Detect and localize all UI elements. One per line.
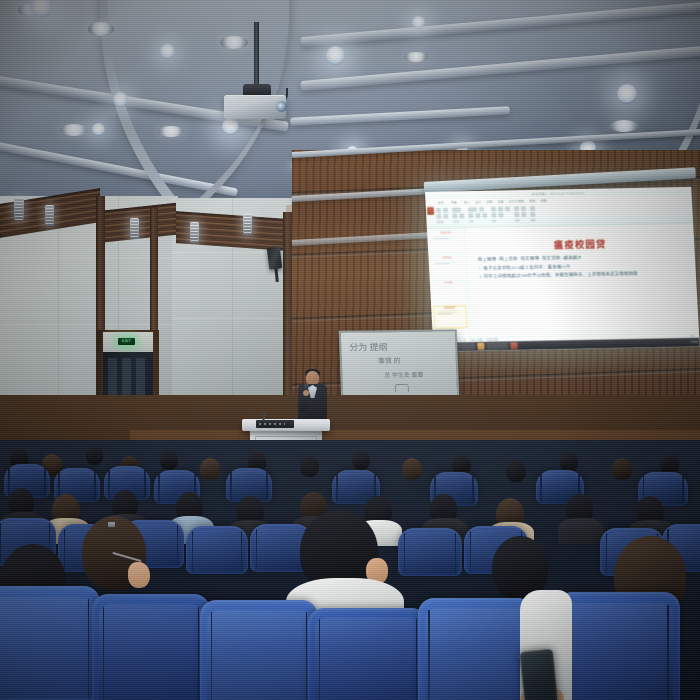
audience-shoulders <box>558 518 604 544</box>
ribbon-group-label: 幻灯片 <box>453 219 465 223</box>
replace-icon[interactable] <box>530 212 535 217</box>
slide-editing-area[interactable]: 瘟疫校园贷 网上赌博--网上贷款--现实赌博--现实贷款--越滚越大 电子信息学… <box>465 224 699 337</box>
audience-head <box>402 458 422 480</box>
ribbon-tab-home[interactable]: 开始 <box>449 199 459 204</box>
wall-sconce <box>130 218 139 239</box>
hair-clip <box>108 522 115 527</box>
arrange-icon[interactable] <box>521 206 526 211</box>
ribbon-group-editing[interactable]: 编辑 <box>530 206 536 222</box>
projection-screen: 演示文稿1 - Microsoft PowerPoint 文件 开始 插入 设计… <box>425 187 700 352</box>
auditorium-seat-front <box>308 608 428 700</box>
ceiling-lamp <box>92 123 105 136</box>
ribbon-group-paragraph[interactable]: 段落 <box>491 206 511 222</box>
reset-icon[interactable] <box>459 213 464 218</box>
ribbon-group-label: 绘图 <box>515 218 527 222</box>
ribbon-group-label: 剪贴板 <box>437 220 449 224</box>
current-slide[interactable]: 瘟疫校园贷 网上赌博--网上贷款--现实赌博--现实贷款--越滚越大 电子信息学… <box>469 229 695 334</box>
ceiling-lamp <box>412 16 425 29</box>
slide-thumbnail[interactable]: 校园贷风险 <box>429 230 463 254</box>
ribbon-group-label: 字体 <box>469 219 488 223</box>
numbering-icon[interactable] <box>498 206 503 211</box>
wall-sconce <box>45 205 54 226</box>
ribbon-tab-animations[interactable]: 动画 <box>497 198 503 203</box>
ribbon-tab-review[interactable]: 审阅 <box>529 198 535 203</box>
slide-thumbnail-panel[interactable]: 校园贷风险 典型案例 防范措施 瘟疫校园贷 <box>427 228 471 338</box>
recessed-downlight <box>60 124 88 136</box>
shape-fill-icon[interactable] <box>514 212 519 217</box>
ribbon-tab-file[interactable]: 文件 <box>437 200 443 205</box>
audience-head <box>506 460 526 482</box>
taskbar-window-button[interactable] <box>486 342 508 349</box>
slide-thumbnail-title: 典型案例 <box>433 257 461 260</box>
auditorium-seat-front <box>200 600 318 700</box>
wall-speaker <box>267 246 283 269</box>
shapes-icon[interactable] <box>514 206 519 211</box>
recessed-downlight <box>220 36 248 49</box>
projector-lens <box>276 101 287 112</box>
lectern-control-panel[interactable] <box>256 420 294 428</box>
font-size-dropdown[interactable] <box>479 207 484 212</box>
italic-icon[interactable] <box>475 213 480 218</box>
ceiling-lamp <box>617 84 637 104</box>
ribbon-group-clipboard[interactable]: 剪贴板 <box>436 208 449 224</box>
whiteboard-ink-line: 分为 提纲 <box>349 340 388 353</box>
line-spacing-icon[interactable] <box>498 212 503 217</box>
window-title: 演示文稿1 - Microsoft PowerPoint <box>532 190 585 195</box>
slide-thumbnail-selected[interactable]: 瘟疫校园贷 <box>433 305 467 329</box>
exit-sign: EXIT <box>118 338 135 345</box>
audience-head <box>200 458 220 480</box>
layout-icon[interactable] <box>452 213 457 218</box>
slide-thumbnail-title: 校园贷风险 <box>432 232 460 235</box>
audience-head <box>300 456 319 477</box>
presenter-hand <box>303 390 309 396</box>
slide-thumbnail-title: 瘟疫校园贷 <box>436 307 464 310</box>
find-icon[interactable] <box>530 206 535 211</box>
whiteboard: 分为 提纲 事情 的 总 学生处 重要 <box>339 329 460 400</box>
audience-head <box>612 458 632 480</box>
audience-head <box>352 450 370 470</box>
taskbar-powerpoint-icon[interactable] <box>510 342 517 349</box>
whiteboard-ink-shape <box>395 384 409 392</box>
audience-area <box>0 440 700 700</box>
phone-screen[interactable] <box>522 653 555 700</box>
shape-outline-icon[interactable] <box>521 212 526 217</box>
align-icon[interactable] <box>505 206 510 211</box>
auditorium-seat-front <box>92 594 210 700</box>
slide-bullet-list: 电子信息学院2014级三名同学，最多输19万 同学之间借钱超过500的予以劝阻，… <box>478 262 685 281</box>
recessed-downlight <box>404 52 428 62</box>
wall-sconce <box>243 214 252 235</box>
bold-icon[interactable] <box>468 213 473 218</box>
ceiling-lamp <box>113 92 128 107</box>
smartphone-in-hand[interactable] <box>519 648 559 700</box>
recessed-downlight <box>610 120 638 132</box>
copy-icon[interactable] <box>436 214 441 219</box>
ribbon-tab-transitions[interactable]: 切换 <box>486 199 492 204</box>
projector-mount-rod <box>254 22 259 90</box>
slide-thumbnail[interactable]: 防范措施 <box>432 280 466 304</box>
ceiling-lamp <box>326 46 345 65</box>
audience-head <box>160 450 178 470</box>
font-name-dropdown[interactable] <box>468 207 477 212</box>
taskbar-clock[interactable]: 14:32 <box>691 341 698 344</box>
whiteboard-ink-line: 事情 的 <box>378 356 401 366</box>
ribbon[interactable]: 文件 开始 插入 设计 切换 动画 幻灯片放映 审阅 视图 剪贴板 <box>425 194 693 229</box>
cut-icon[interactable] <box>443 208 448 213</box>
powerpoint-window[interactable]: 演示文稿1 - Microsoft PowerPoint 文件 开始 插入 设计… <box>425 187 700 352</box>
paste-icon[interactable] <box>436 208 441 213</box>
bullets-icon[interactable] <box>491 207 496 212</box>
ppt-workspace: 校园贷风险 典型案例 防范措施 瘟疫校园贷 <box>427 224 699 338</box>
ribbon-group-label: 段落 <box>492 218 511 222</box>
exit-sign-label: EXIT <box>122 340 131 344</box>
wall-sconce <box>14 198 24 220</box>
auditorium-seat-front <box>418 598 534 700</box>
new-slide-icon[interactable] <box>452 207 461 212</box>
slide-title: 瘟疫校园贷 <box>477 235 684 253</box>
ceiling-lamp <box>160 44 175 59</box>
audience-head <box>86 446 103 465</box>
whiteboard-ink-line: 总 学生处 重要 <box>384 370 423 379</box>
taskbar-explorer-icon[interactable] <box>477 343 484 350</box>
slide-thumbnail-title: 防范措施 <box>434 282 462 285</box>
recessed-downlight <box>88 22 114 36</box>
ceiling-lamp <box>222 118 239 135</box>
ribbon-tab-design[interactable]: 设计 <box>475 199 481 204</box>
indent-icon[interactable] <box>491 213 496 218</box>
ribbon-tab-insert[interactable]: 插入 <box>464 199 470 204</box>
lecture-hall-photo: 演示文稿1 - Microsoft PowerPoint 文件 开始 插入 设计… <box>0 0 700 700</box>
format-painter-icon[interactable] <box>443 214 448 219</box>
auditorium-seat <box>186 526 248 574</box>
ribbon-group-label: 编辑 <box>531 218 536 222</box>
ribbon-tab-slideshow[interactable]: 幻灯片放映 <box>509 198 525 203</box>
ribbon-tab-view[interactable]: 视图 <box>540 198 546 203</box>
office-logo-icon[interactable] <box>427 207 434 215</box>
auditorium-seat <box>398 528 462 576</box>
audience-face <box>128 562 150 588</box>
audience-head <box>560 452 578 472</box>
wall-sconce <box>190 222 199 243</box>
underline-icon[interactable] <box>482 213 487 218</box>
ribbon-group-slides[interactable]: 幻灯片 <box>452 207 465 223</box>
recessed-downlight <box>158 126 184 137</box>
auditorium-seat-front <box>556 592 680 700</box>
ribbon-group-drawing[interactable]: 绘图 <box>514 206 527 222</box>
auditorium-seat-front <box>0 586 100 700</box>
ribbon-group-font[interactable]: 字体 <box>468 207 488 223</box>
slide-thumbnail[interactable]: 典型案例 <box>430 255 464 279</box>
